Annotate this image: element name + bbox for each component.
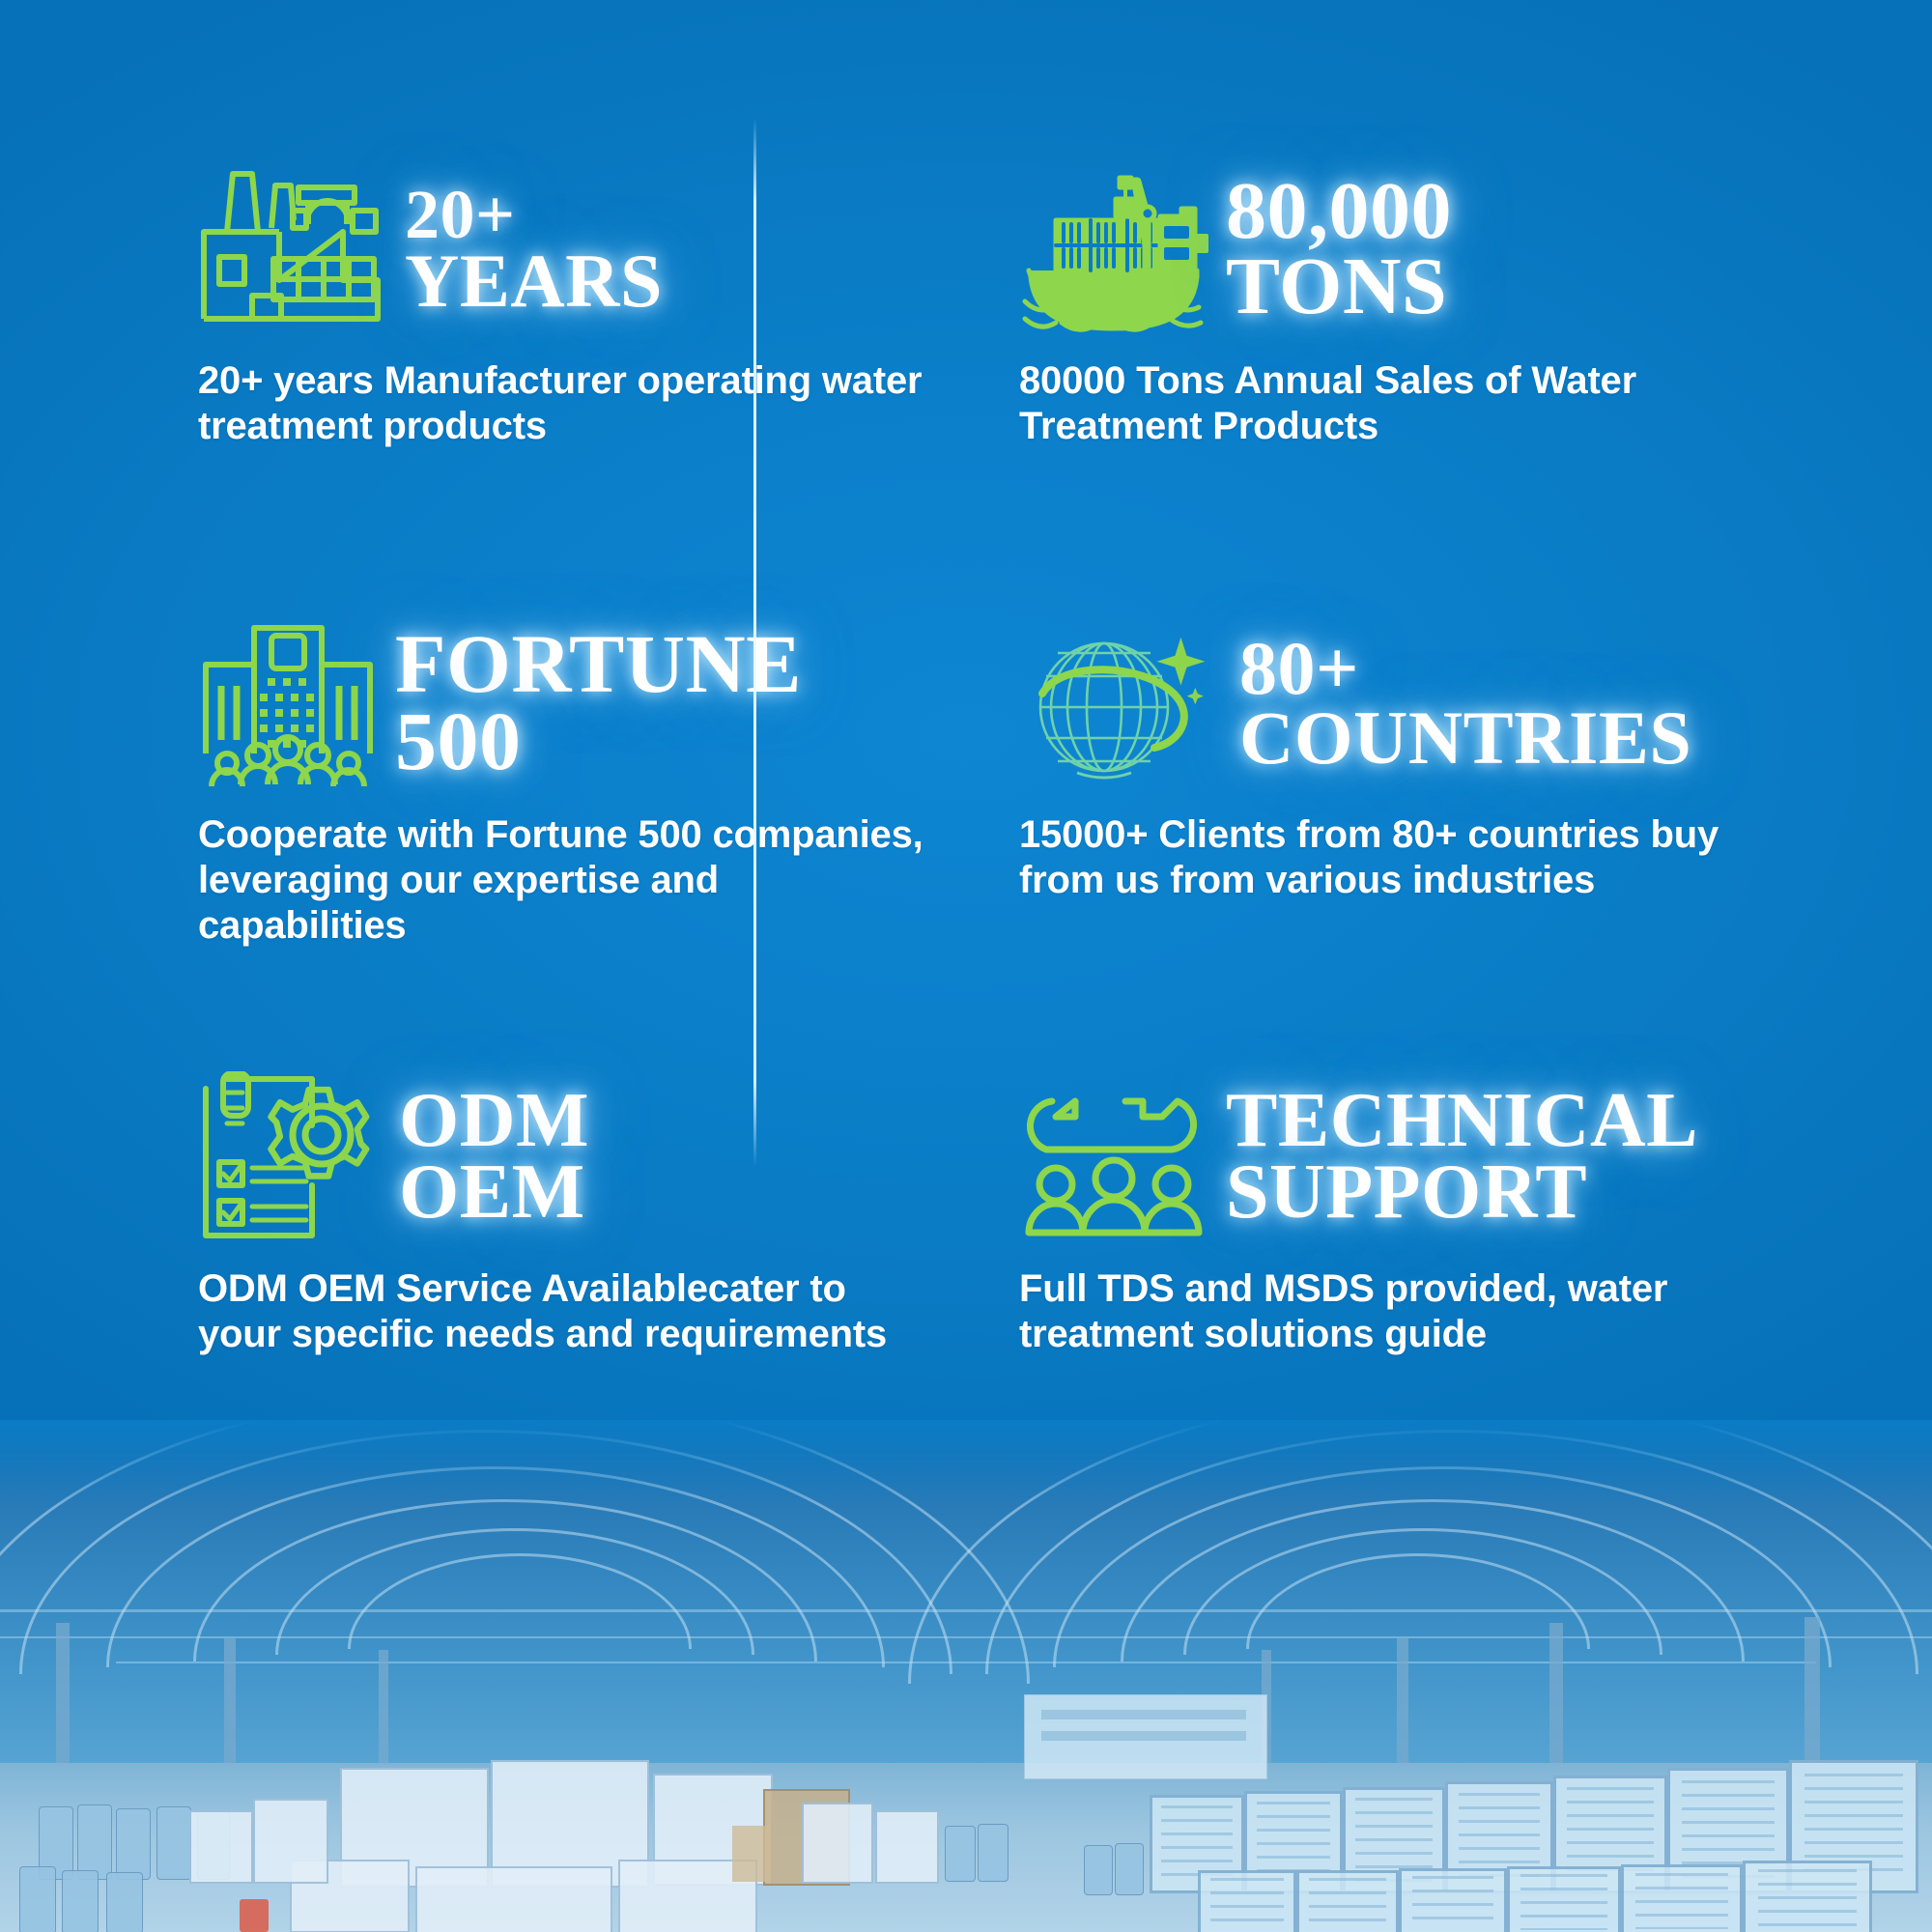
feature-headline: ODM OEM (399, 1086, 589, 1228)
headline-line-1: TECHNICAL (1226, 1086, 1698, 1157)
feature-body: 20+ years Manufacturer operating water t… (198, 358, 927, 449)
office-building-icon (198, 618, 378, 788)
clipboard-gear-icon (198, 1071, 382, 1243)
roof-beam (0, 1609, 1932, 1612)
feature-body: Cooperate with Fortune 500 companies, le… (198, 812, 927, 948)
roof-beam (0, 1636, 1932, 1638)
feature-header: FORTUNE 500 (198, 599, 927, 807)
chemical-drum (116, 1808, 151, 1880)
headline-line-2: COUNTRIES (1239, 703, 1691, 773)
feature-headline: 80+ COUNTRIES (1239, 634, 1691, 773)
ibc-tote (1743, 1861, 1872, 1932)
globe-icon (1019, 618, 1222, 787)
ibc-tote (1507, 1866, 1621, 1932)
distant-building-window (1041, 1710, 1246, 1719)
feature-card-countries: 80+ COUNTRIES 15000+ Clients from 80+ co… (966, 599, 1874, 1053)
chemical-drum (156, 1806, 191, 1880)
headline-line-2: YEARS (405, 246, 663, 316)
factory-icon (198, 164, 387, 333)
pallet-stack (415, 1866, 612, 1932)
cargo-ship-icon (1019, 166, 1208, 332)
feature-header: ODM OEM (198, 1053, 927, 1261)
feature-card-fortune: FORTUNE 500 Cooperate with Fortune 500 c… (58, 599, 966, 1053)
chemical-drum (1115, 1843, 1144, 1895)
ibc-tote (1296, 1870, 1399, 1932)
headline-line-2: TONS (1226, 249, 1452, 324)
feature-header: TECHNICAL SUPPORT (1019, 1053, 1835, 1261)
feature-card-years: 20+ YEARS 20+ years Manufacturer operati… (58, 145, 966, 599)
sack-stack (875, 1810, 939, 1884)
infographic-canvas: 20+ YEARS 20+ years Manufacturer operati… (0, 0, 1932, 1932)
ibc-tote (1198, 1870, 1296, 1932)
chemical-drum (945, 1826, 976, 1882)
chemical-drum (1084, 1845, 1113, 1895)
red-container (240, 1899, 269, 1932)
feature-header: 20+ YEARS (198, 145, 927, 353)
headline-line-1: ODM (399, 1086, 589, 1157)
chemical-drum (106, 1872, 143, 1932)
feature-body: ODM OEM Service Availablecater to your s… (198, 1266, 927, 1357)
feature-grid: 20+ YEARS 20+ years Manufacturer operati… (0, 0, 1932, 1507)
headline-line-2: OEM (399, 1157, 589, 1229)
chemical-drum (62, 1870, 99, 1932)
feature-headline: FORTUNE 500 (395, 626, 802, 779)
chemical-drum (77, 1804, 112, 1880)
ibc-tote (1621, 1864, 1743, 1932)
feature-headline: 20+ YEARS (405, 183, 663, 316)
headline-line-1: 80+ (1239, 634, 1691, 703)
sack-stack (253, 1799, 328, 1884)
feature-body: Full TDS and MSDS provided, water treatm… (1019, 1266, 1753, 1357)
sack-stack (802, 1803, 873, 1884)
feature-card-tons: 80,000 TONS 80000 Tons Annual Sales of W… (966, 145, 1874, 599)
wood-pallet (732, 1826, 771, 1882)
feature-headline: TECHNICAL SUPPORT (1226, 1086, 1698, 1228)
feature-header: 80,000 TONS (1019, 145, 1835, 353)
headline-line-1: 80,000 (1226, 174, 1452, 248)
headline-line-1: FORTUNE (395, 626, 802, 702)
column-divider (753, 118, 756, 1166)
wrench-team-icon (1019, 1076, 1208, 1238)
headline-line-2: SUPPORT (1226, 1157, 1698, 1229)
photo-top-fade (0, 1420, 1932, 1507)
chemical-drum (978, 1824, 1009, 1882)
chemical-drum (19, 1866, 56, 1932)
feature-header: 80+ COUNTRIES (1019, 599, 1835, 807)
distant-building-window (1041, 1731, 1246, 1741)
ibc-tote (1399, 1868, 1507, 1932)
feature-body: 15000+ Clients from 80+ countries buy fr… (1019, 812, 1753, 903)
sack-stack (189, 1810, 253, 1884)
headline-line-1: 20+ (405, 183, 663, 246)
headline-line-2: 500 (395, 703, 802, 780)
warehouse-interior-photo (0, 1420, 1932, 1932)
feature-body: 80000 Tons Annual Sales of Water Treatme… (1019, 358, 1753, 449)
feature-headline: 80,000 TONS (1226, 174, 1452, 324)
